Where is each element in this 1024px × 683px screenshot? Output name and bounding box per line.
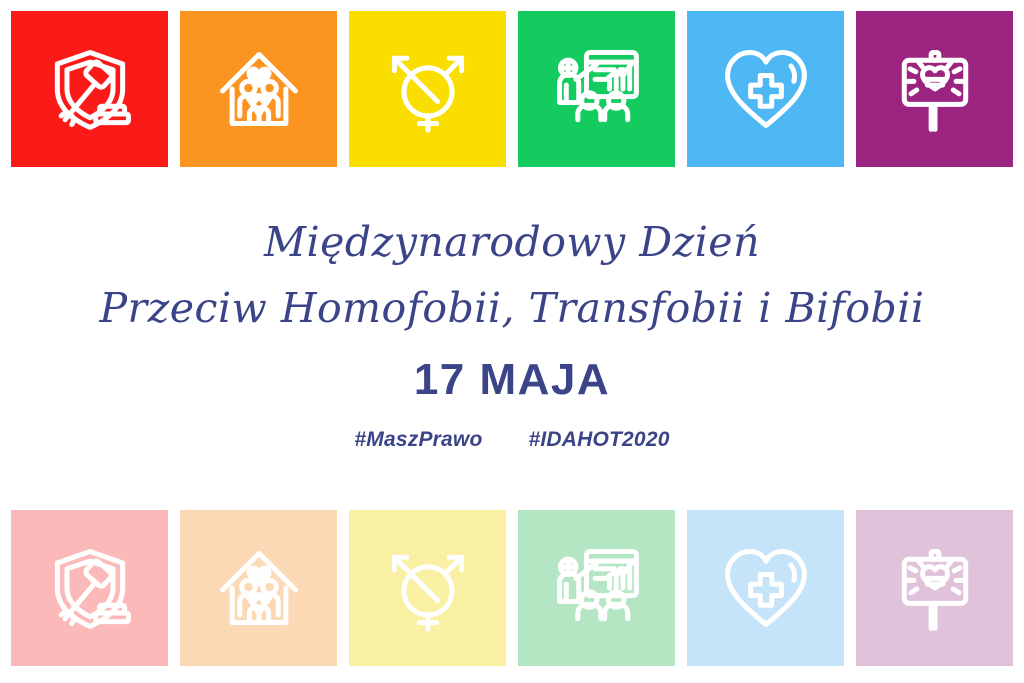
center-text-block: Międzynarodowy Dzień Przeciw Homofobii, …	[0, 167, 1024, 510]
top-icon-strip	[11, 11, 1013, 167]
education-presentation-icon	[549, 41, 645, 137]
shield-gavel-icon	[42, 41, 138, 137]
protest-sign-heart-icon	[887, 41, 983, 137]
icon-tile-protest-sign-top	[856, 11, 1013, 167]
icon-tile-shield-gavel-top	[11, 11, 168, 167]
family-home-heart-icon	[211, 41, 307, 137]
icon-tile-heart-medical-bottom	[687, 510, 844, 666]
headline-line-1: Międzynarodowy Dzień	[264, 221, 760, 264]
icon-tile-transgender-bottom	[349, 510, 506, 666]
event-date: 17 MAJA	[414, 358, 610, 402]
icon-tile-education-bottom	[518, 510, 675, 666]
protest-sign-heart-icon	[887, 540, 983, 636]
hashtag-idahot2020: #IDAHOT2020	[528, 428, 669, 452]
icon-tile-protest-sign-bottom	[856, 510, 1013, 666]
icon-tile-family-home-top	[180, 11, 337, 167]
transgender-symbol-icon	[380, 41, 476, 137]
hashtag-row: #MaszPrawo #IDAHOT2020	[354, 428, 669, 452]
family-home-heart-icon	[211, 540, 307, 636]
heart-medical-cross-icon	[718, 540, 814, 636]
hashtag-masz-prawo: #MaszPrawo	[354, 428, 482, 452]
icon-tile-shield-gavel-bottom	[11, 510, 168, 666]
icon-tile-transgender-top	[349, 11, 506, 167]
poster: Międzynarodowy Dzień Przeciw Homofobii, …	[0, 0, 1024, 683]
shield-gavel-icon	[42, 540, 138, 636]
icon-tile-family-home-bottom	[180, 510, 337, 666]
icon-tile-education-top	[518, 11, 675, 167]
transgender-symbol-icon	[380, 540, 476, 636]
bottom-icon-strip	[11, 510, 1013, 666]
icon-tile-heart-medical-top	[687, 11, 844, 167]
heart-medical-cross-icon	[718, 41, 814, 137]
education-presentation-icon	[549, 540, 645, 636]
headline-line-2: Przeciw Homofobii, Transfobii i Bifobii	[99, 287, 924, 330]
